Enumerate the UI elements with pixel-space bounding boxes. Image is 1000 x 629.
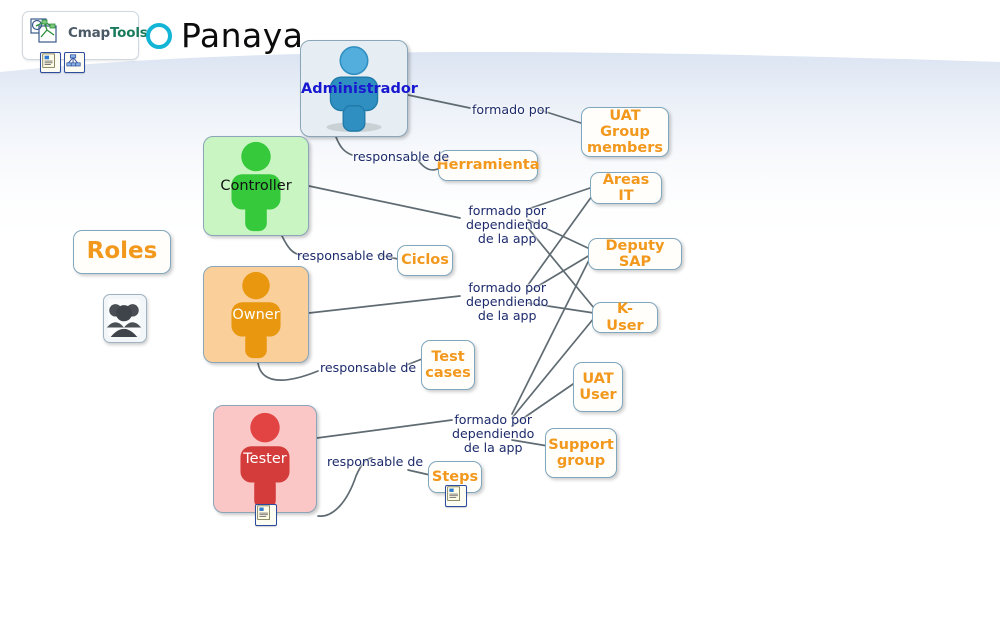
steps-document-icon[interactable] [445,485,467,507]
node-label-controller: Controller [204,178,308,194]
node-label-k-user: K-User [602,301,648,333]
concept-map-icon[interactable] [64,52,85,73]
panaya-logo: Panaya [146,19,304,52]
cmap-badge-group[interactable] [40,52,85,73]
link-label-controller-responsable[interactable]: responsable de [297,249,393,263]
tester-document-icon[interactable] [255,504,277,526]
node-herramienta[interactable]: Herramienta [438,150,538,181]
tools-word: Tools [110,25,148,41]
node-deputy-sap[interactable]: Deputy SAP [588,238,682,270]
document-icon-glyph [446,486,463,503]
node-test-cases[interactable]: Test cases [421,340,475,390]
node-label-owner: Owner [204,307,308,323]
document-icon[interactable] [40,52,61,73]
document-icon-glyph [256,505,273,522]
cmap-word: Cmap [68,25,110,41]
people-group-icon-glyph [104,295,144,340]
link-label-controller-formado[interactable]: formado por dependiendo de la app [466,204,548,247]
node-tester[interactable]: Tester [213,405,317,513]
node-ciclos[interactable]: Ciclos [397,245,453,276]
link-label-owner-formado[interactable]: formado por dependiendo de la app [466,281,548,324]
cmap-canvas[interactable]: CmapTools Panaya [0,0,1000,629]
node-uat-user[interactable]: UAT User [573,362,623,412]
cmaptools-wordmark: CmapTools [68,25,148,41]
roles-people-icon[interactable] [103,294,147,343]
node-owner[interactable]: Owner [203,266,309,363]
node-uat-group-members[interactable]: UAT Group members [581,107,669,157]
node-label-administrador: Administrador [301,81,407,97]
link-label-tester-formado[interactable]: formado por dependiendo de la app [452,413,534,456]
node-administrador[interactable]: Administrador [300,40,408,137]
node-label-herramienta: Herramienta [437,157,540,173]
concept-map-icon-glyph [65,53,82,70]
node-label-roles: Roles [87,239,158,265]
link-label-adm-formado[interactable]: formado por [472,103,550,117]
panaya-ring-icon [146,23,172,49]
cmap-mark-icon [30,17,66,51]
node-label-steps: Steps [432,469,478,485]
node-k-user[interactable]: K-User [592,302,658,333]
link-label-adm-responsable[interactable]: responsable de [353,150,449,164]
document-icon-glyph [41,53,58,70]
node-label-uat-group-members: UAT Group members [587,108,663,157]
node-label-support-group: Support group [548,437,614,469]
node-label-areas-it: Areas IT [600,172,652,204]
node-support-group[interactable]: Support group [545,428,617,478]
node-label-deputy-sap: Deputy SAP [598,238,672,270]
node-label-tester: Tester [214,451,316,467]
node-controller[interactable]: Controller [203,136,309,236]
panaya-wordmark: Panaya [181,19,304,52]
link-label-owner-responsable[interactable]: responsable de [320,361,416,375]
node-label-ciclos: Ciclos [401,252,449,268]
node-areas-it[interactable]: Areas IT [590,172,662,204]
node-roles[interactable]: Roles [73,230,171,274]
link-label-tester-responsable[interactable]: responsable de [327,455,423,469]
node-label-uat-user: UAT User [579,371,616,403]
node-label-test-cases: Test cases [425,349,470,381]
